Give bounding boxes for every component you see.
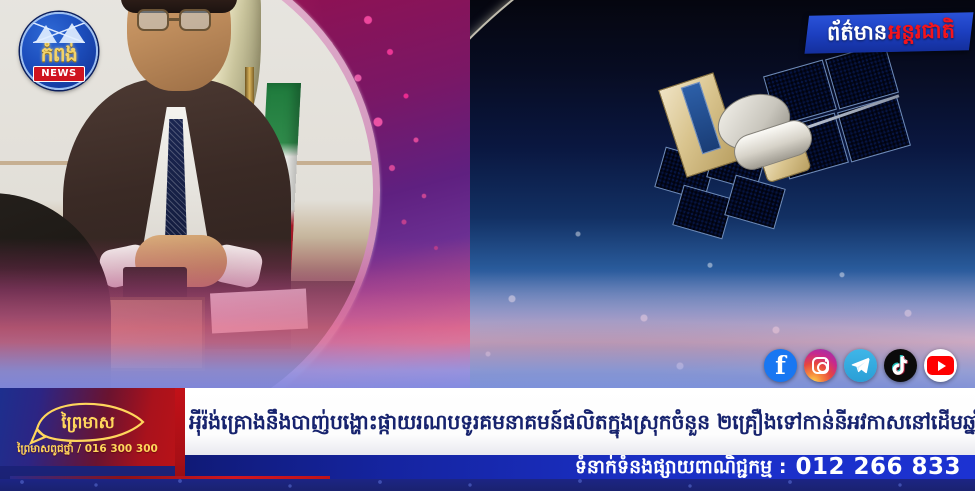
broadcast-news-lower-third-screen: កំពង់ NEWS ព័ត៌មាន អន្តរជាតិ f [0,0,975,491]
facebook-icon[interactable]: f [764,349,797,382]
footer-speckles [0,477,975,491]
facebook-glyph: f [775,353,786,379]
mountain-icon [33,23,85,43]
satellite-image [655,45,955,275]
youtube-icon[interactable] [924,349,957,382]
sponsor-caption: ព្រៃមាសពូជថ្នាំ / 016 300 300 [17,443,158,455]
telegram-icon[interactable] [844,349,877,382]
channel-logo-news-label: NEWS [33,66,84,82]
instagram-icon[interactable] [804,349,837,382]
visual-area: កំពង់ NEWS ព័ត៌មាន អន្តរជាតិ f [0,0,975,388]
lower-third-bar: ព្រៃមាស ព្រៃមាសពូជថ្នាំ / 016 300 300 អុ… [0,388,975,491]
headline-bar: អុីរ៉ង់គ្រោងនឹងបាញ់បង្ហោះផ្កាយរណបទូរគមនា… [185,388,975,455]
channel-logo-khmer-name: កំពង់ [41,44,78,64]
glasses-icon [137,9,169,31]
sponsor-panel[interactable]: ព្រៃមាស ព្រៃមាសពូជថ្នាំ / 016 300 300 [0,388,175,466]
contact-phone-number: 012 266 833 [795,455,961,479]
tiktok-icon[interactable] [884,349,917,382]
sponsor-leaf-logo-icon: ព្រៃមាស [29,399,147,445]
telegram-paper-plane-glyph [850,355,871,376]
contact-label: ទំនាក់ទំនងផ្សាយពាណិជ្ជកម្ម : [575,455,787,479]
category-banner-label-news: ព័ត៌មាន [827,20,888,45]
social-links: f [764,349,957,382]
sponsor-logo-text: ព្រៃមាស [60,411,115,433]
instagram-camera-glyph [812,357,829,374]
youtube-play-glyph [927,356,954,375]
tiktok-note-glyph [891,355,910,376]
glasses-icon [179,9,211,31]
glasses-bridge [169,18,181,21]
category-banner[interactable]: ព័ត៌មាន អន្តរជាតិ [805,12,974,53]
headline-text: អុីរ៉ង់គ្រោងនឹងបាញ់បង្ហោះផ្កាយរណបទូរគមនា… [185,407,975,437]
category-banner-label-international: អន្តរជាតិ [888,19,955,44]
solar-panel-icon [724,175,786,230]
channel-logo[interactable]: កំពង់ NEWS [20,12,98,90]
